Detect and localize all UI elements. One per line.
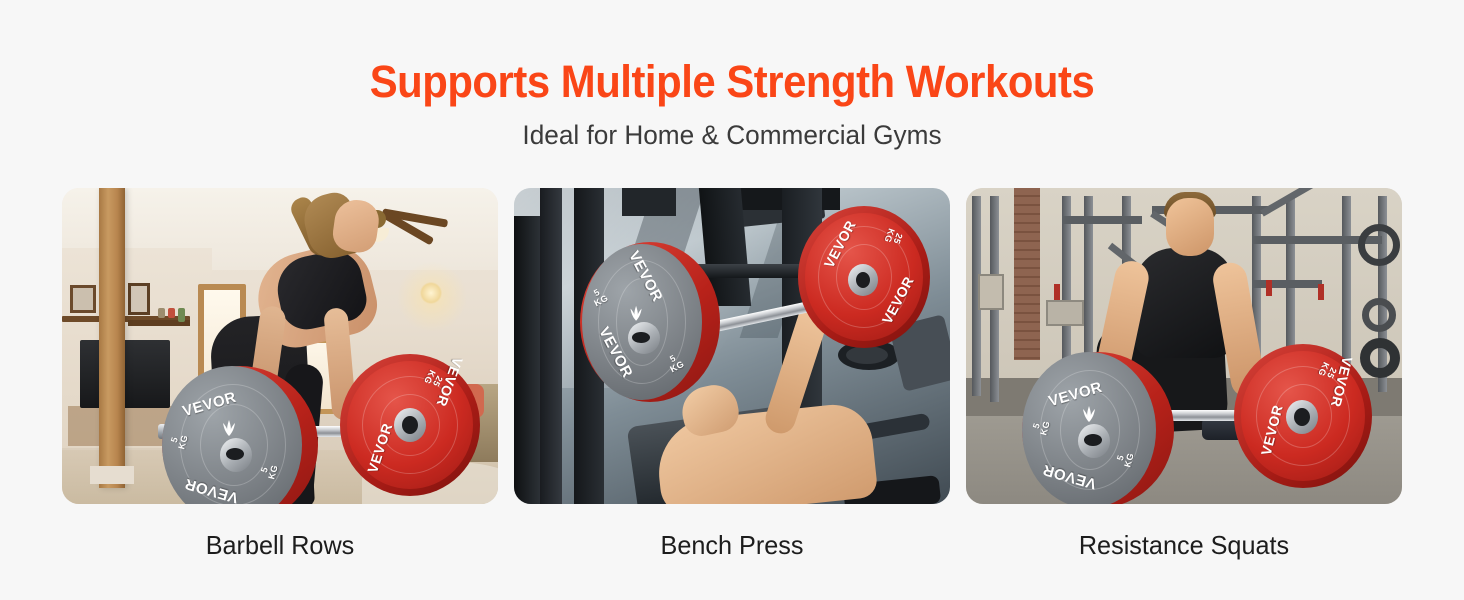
background-equipment (622, 188, 676, 216)
workout-card[interactable]: VEVOR VEVOR 25KG VEVOR VEVOR (966, 188, 1402, 561)
weight-plate-25kg: VEVOR VEVOR 25KG (1234, 344, 1372, 488)
rack-upright (540, 188, 562, 504)
heading-block: Supports Multiple Strength Workouts Idea… (0, 0, 1464, 151)
plate-bore (1294, 408, 1310, 426)
weight-plate-25kg: VEVOR VEVOR 25KG (340, 354, 480, 496)
page-title: Supports Multiple Strength Workouts (51, 59, 1413, 104)
gym-wall-panel (1046, 300, 1084, 326)
background-weight-plate (1360, 338, 1400, 378)
workout-card[interactable]: VEVOR VEVOR 25KG VEVOR VEVOR (514, 188, 950, 561)
page-subtitle: Ideal for Home & Commercial Gyms (22, 121, 1442, 151)
rack-upright (514, 216, 540, 504)
post-base (90, 466, 134, 484)
rack-pin (1054, 284, 1060, 300)
person-head (1166, 198, 1214, 256)
card-caption: Barbell Rows (69, 530, 492, 561)
shelf-decor (158, 308, 165, 318)
brick-column (1014, 188, 1040, 360)
workout-card[interactable]: VEVOR VEVOR 25KG VEVOR VEVOR (62, 188, 498, 561)
weight-plate-25kg: VEVOR VEVOR 25KG (798, 206, 930, 348)
plate-bore (632, 332, 650, 343)
rack-beam (1252, 280, 1322, 288)
plate-bore (226, 448, 244, 460)
picture-frame (70, 285, 96, 313)
promo-banner: Supports Multiple Strength Workouts Idea… (0, 0, 1464, 600)
plate-bore (856, 272, 870, 288)
picture-frame (128, 283, 150, 315)
floor-weight-plate-center (846, 346, 888, 364)
workout-card-list: VEVOR VEVOR 25KG VEVOR VEVOR (62, 188, 1402, 561)
rack-pin (1318, 284, 1324, 300)
card-caption: Bench Press (521, 530, 944, 561)
wall-sconce (420, 282, 442, 304)
background-weight-plate (1358, 224, 1400, 266)
card-caption: Resistance Squats (973, 530, 1396, 561)
television (80, 340, 170, 408)
shelf-plant (178, 308, 185, 322)
gym-wall-panel (978, 274, 1004, 310)
rack-beam (1062, 216, 1142, 224)
background-weight-plate (1362, 298, 1396, 332)
workout-photo-bench-press: VEVOR VEVOR 25KG VEVOR VEVOR (514, 188, 950, 504)
weight-plate-5kg: VEVOR VEVOR 5KG 5KG (580, 242, 720, 402)
wooden-post (99, 188, 125, 488)
workout-photo-barbell-rows: VEVOR VEVOR 25KG VEVOR VEVOR (62, 188, 498, 504)
workout-photo-resistance-squats: VEVOR VEVOR 25KG VEVOR VEVOR (966, 188, 1402, 504)
weight-plate-5kg: VEVOR VEVOR 5KG 5KG (1022, 352, 1174, 504)
rack-pin (1266, 280, 1272, 296)
plate-bore (1084, 434, 1102, 446)
shelf-decor (168, 308, 175, 318)
plate-bore (402, 416, 418, 434)
